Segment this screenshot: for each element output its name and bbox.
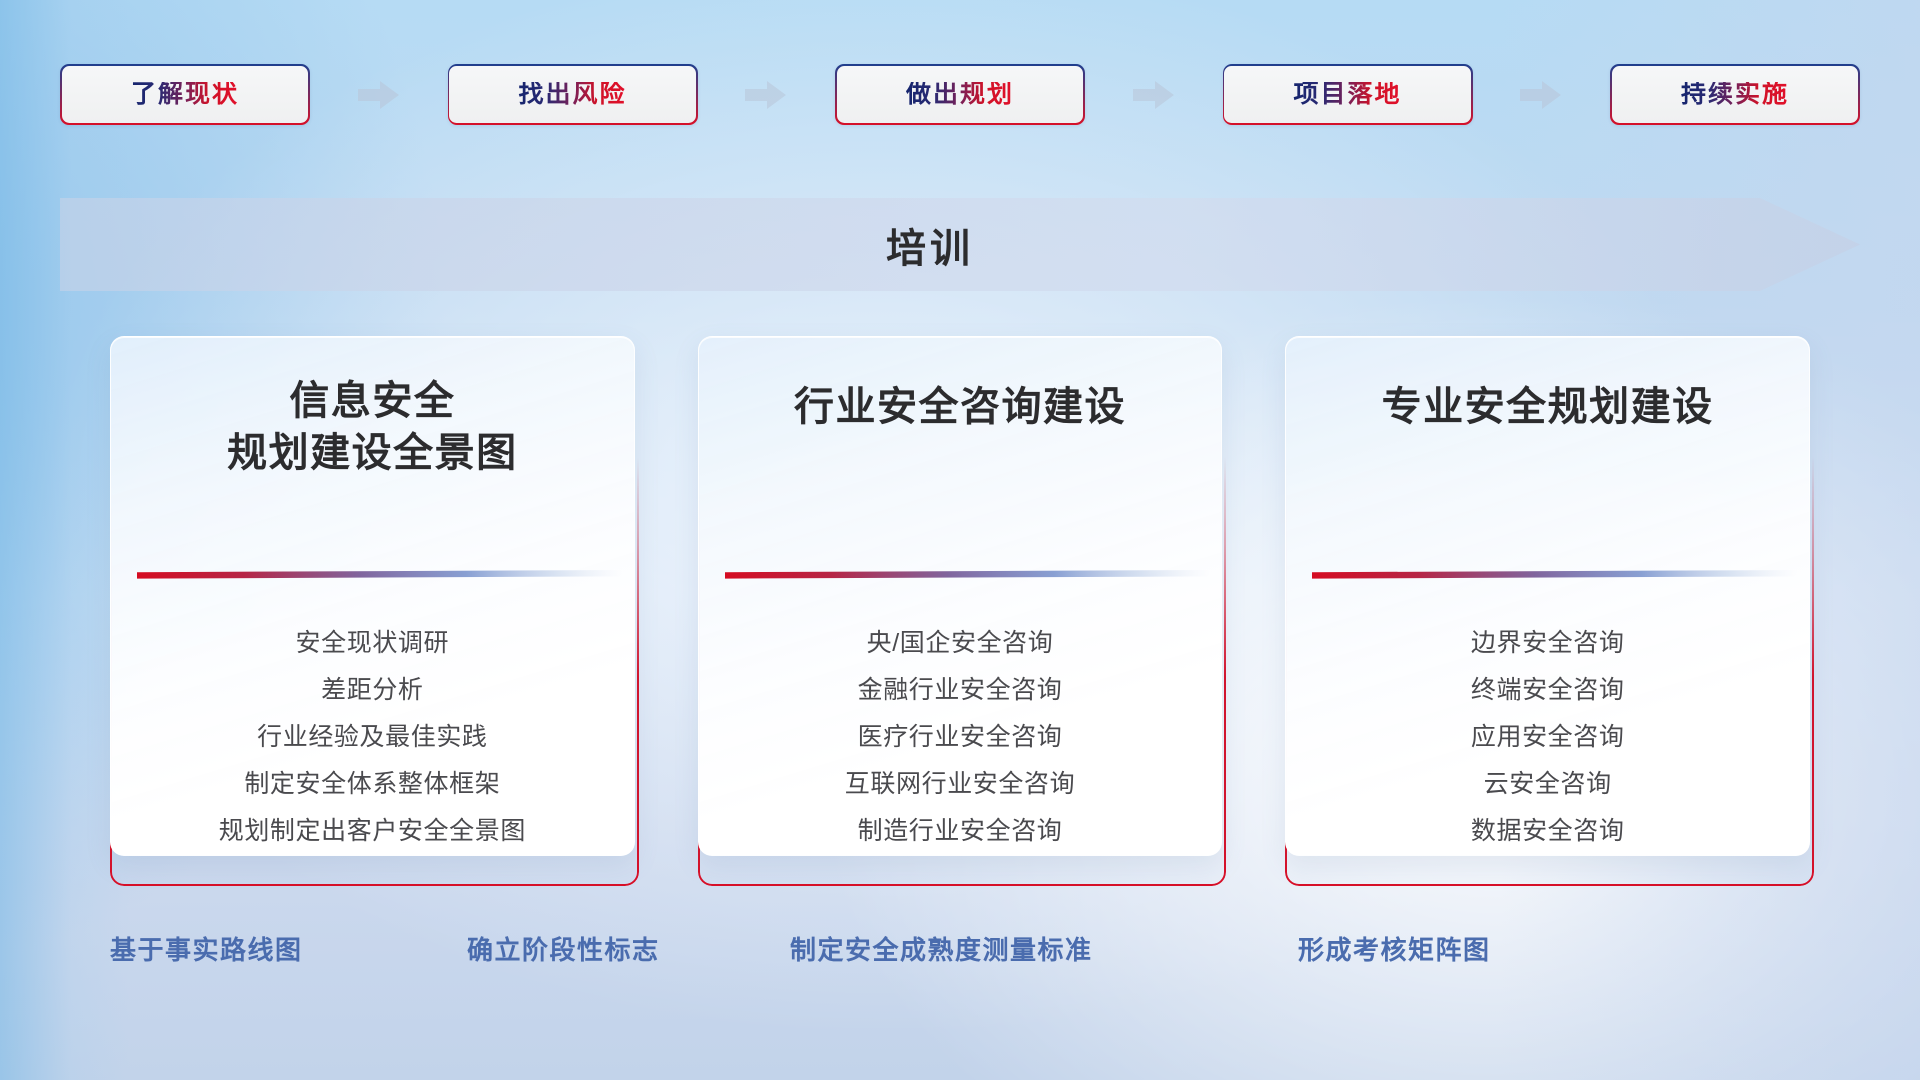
caption-2: 确立阶段性标志 bbox=[467, 920, 660, 980]
list-item: 央/国企安全咨询 bbox=[721, 620, 1200, 667]
arrow-right-icon bbox=[1133, 80, 1175, 110]
banner-label: 培训 bbox=[60, 198, 1800, 291]
card-1[interactable]: 信息安全 规划建设全景图 bbox=[110, 336, 635, 856]
card-3[interactable]: 专业安全规划建设 bbox=[1285, 336, 1810, 856]
card-2-list: 央/国企安全咨询 金融行业安全咨询 医疗行业安全咨询 互联网行业安全咨询 制造行… bbox=[699, 620, 1222, 855]
card-3-title-line-1: 专业安全规划建设 bbox=[1286, 381, 1809, 433]
card-1-divider-slot bbox=[111, 564, 634, 590]
caption-row: 基于事实路线图 确立阶段性标志 制定安全成熟度测量标准 形成考核矩阵图 bbox=[0, 920, 1920, 980]
arrow-right-icon bbox=[358, 80, 400, 110]
step-pill-5-label: 持续实施 bbox=[1681, 82, 1789, 107]
card-1-list: 安全现状调研 差距分析 行业经验及最佳实践 制定安全体系整体框架 规划制定出客户… bbox=[111, 620, 634, 855]
list-item: 规划制定出客户安全全景图 bbox=[133, 808, 612, 855]
card-1-wrap: 信息安全 规划建设全景图 bbox=[110, 336, 635, 876]
step-pill-1-label: 了解现状 bbox=[131, 82, 239, 107]
list-item: 医疗行业安全咨询 bbox=[721, 714, 1200, 761]
card-1-title-line-1: 信息安全 bbox=[111, 375, 634, 427]
process-steps: 了解现状 找出风险 做出规划 项目落地 bbox=[60, 63, 1860, 126]
list-item: 制造行业安全咨询 bbox=[721, 808, 1200, 855]
card-2[interactable]: 行业安全咨询建设 bbox=[698, 336, 1223, 856]
card-3-divider-slot bbox=[1286, 564, 1809, 590]
caption-3: 制定安全成熟度测量标准 bbox=[790, 920, 1093, 980]
list-item: 差距分析 bbox=[133, 667, 612, 714]
card-group: 信息安全 规划建设全景图 bbox=[110, 336, 1810, 876]
step-pill-4[interactable]: 项目落地 bbox=[1223, 64, 1473, 125]
card-3-divider bbox=[1312, 570, 1797, 579]
step-pill-5-inner: 持续实施 bbox=[1612, 66, 1859, 124]
step-pill-2-inner: 找出风险 bbox=[449, 66, 696, 124]
list-item: 制定安全体系整体框架 bbox=[133, 761, 612, 808]
card-3-list: 边界安全咨询 终端安全咨询 应用安全咨询 云安全咨询 数据安全咨询 bbox=[1286, 620, 1809, 855]
step-pill-3[interactable]: 做出规划 bbox=[835, 64, 1085, 125]
card-2-divider-slot bbox=[699, 564, 1222, 590]
list-item: 互联网行业安全咨询 bbox=[721, 761, 1200, 808]
training-banner: 培训 bbox=[60, 198, 1860, 291]
card-1-title-line-2: 规划建设全景图 bbox=[111, 427, 634, 479]
card-3-wrap: 专业安全规划建设 bbox=[1285, 336, 1810, 876]
list-item: 终端安全咨询 bbox=[1308, 667, 1787, 714]
step-pill-2[interactable]: 找出风险 bbox=[448, 64, 698, 125]
list-item: 边界安全咨询 bbox=[1308, 620, 1787, 667]
list-item: 云安全咨询 bbox=[1308, 761, 1787, 808]
list-item: 金融行业安全咨询 bbox=[721, 667, 1200, 714]
card-2-wrap: 行业安全咨询建设 bbox=[698, 336, 1223, 876]
step-pill-3-inner: 做出规划 bbox=[837, 66, 1084, 124]
list-item: 安全现状调研 bbox=[133, 620, 612, 667]
card-3-title: 专业安全规划建设 bbox=[1286, 381, 1809, 433]
step-pill-3-label: 做出规划 bbox=[906, 82, 1014, 107]
card-2-title: 行业安全咨询建设 bbox=[699, 381, 1222, 433]
slide-canvas: 了解现状 找出风险 做出规划 项目落地 bbox=[0, 0, 1920, 1080]
list-item: 应用安全咨询 bbox=[1308, 714, 1787, 761]
arrow-right-icon bbox=[1520, 80, 1562, 110]
step-pill-2-label: 找出风险 bbox=[518, 82, 626, 107]
step-pill-4-inner: 项目落地 bbox=[1224, 66, 1471, 124]
step-pill-4-label: 项目落地 bbox=[1293, 82, 1401, 107]
step-pill-1-inner: 了解现状 bbox=[62, 66, 309, 124]
list-item: 数据安全咨询 bbox=[1308, 808, 1787, 855]
list-item: 行业经验及最佳实践 bbox=[133, 714, 612, 761]
caption-1: 基于事实路线图 bbox=[110, 920, 303, 980]
card-1-divider bbox=[137, 570, 622, 579]
step-pill-1[interactable]: 了解现状 bbox=[60, 64, 310, 125]
card-1-title: 信息安全 规划建设全景图 bbox=[111, 375, 634, 479]
card-2-divider bbox=[725, 570, 1210, 579]
caption-4: 形成考核矩阵图 bbox=[1298, 920, 1491, 980]
step-pill-5[interactable]: 持续实施 bbox=[1610, 64, 1860, 125]
arrow-right-icon bbox=[745, 80, 787, 110]
card-2-title-line-1: 行业安全咨询建设 bbox=[699, 381, 1222, 433]
